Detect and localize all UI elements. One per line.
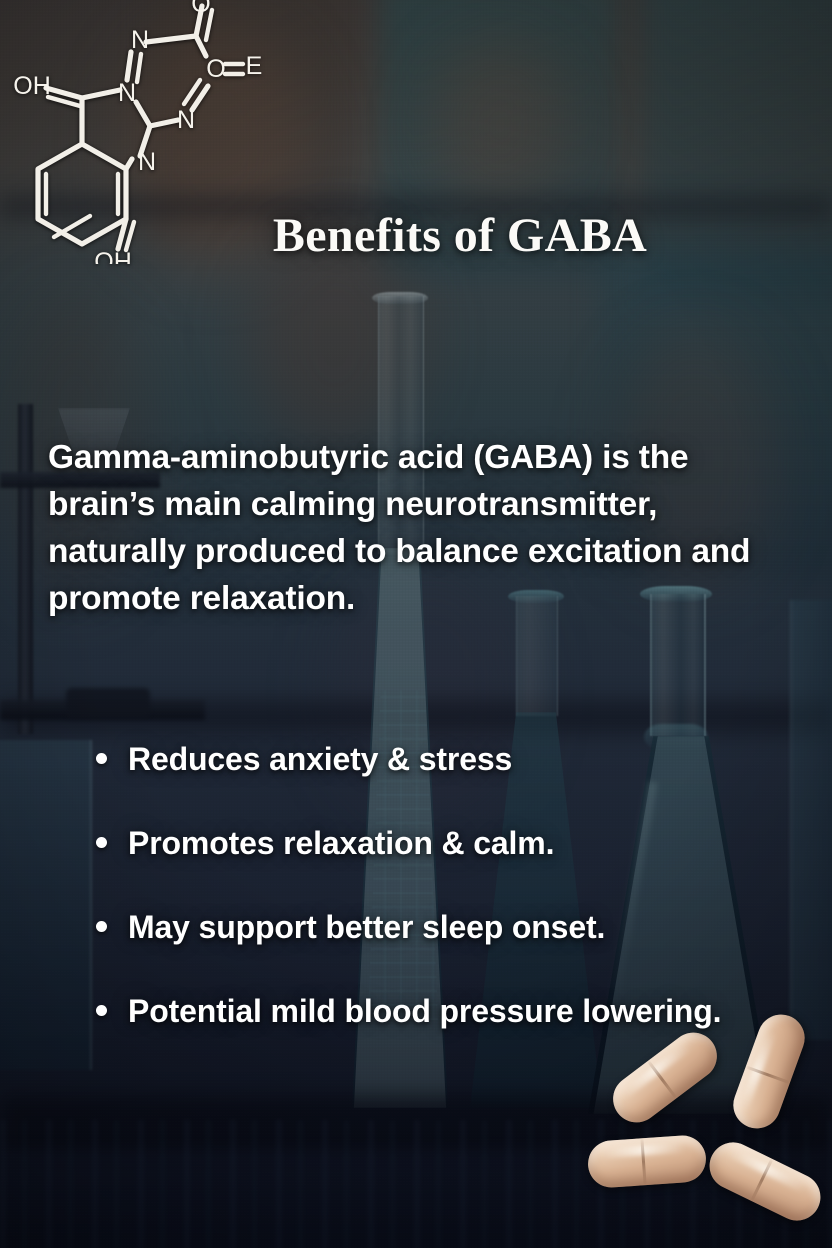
list-item-label: Promotes relaxation & calm. (128, 825, 554, 861)
list-item: May support better sleep onset. (92, 906, 752, 948)
poster-content: Benefits of GABA Gamma-aminobutyric acid… (0, 0, 832, 1248)
benefits-list: Reduces anxiety & stress Promotes relaxa… (92, 738, 752, 1032)
list-item: Potential mild blood pressure lowering. (92, 990, 752, 1032)
list-item-label: Reduces anxiety & stress (128, 741, 512, 777)
bullet-dot-icon (96, 921, 107, 932)
page-title: Benefits of GABA (0, 208, 832, 263)
bullet-dot-icon (96, 753, 107, 764)
gaba-benefits-poster: O N O E N N OH N OH Benefits of GABA Gam… (0, 0, 832, 1248)
intro-paragraph: Gamma-aminobutyric acid (GABA) is the br… (48, 434, 764, 622)
list-item: Reduces anxiety & stress (92, 738, 752, 780)
list-item-label: Potential mild blood pressure lowering. (128, 993, 721, 1029)
list-item: Promotes relaxation & calm. (92, 822, 752, 864)
list-item-label: May support better sleep onset. (128, 909, 605, 945)
bullet-dot-icon (96, 1005, 107, 1016)
bullet-dot-icon (96, 837, 107, 848)
